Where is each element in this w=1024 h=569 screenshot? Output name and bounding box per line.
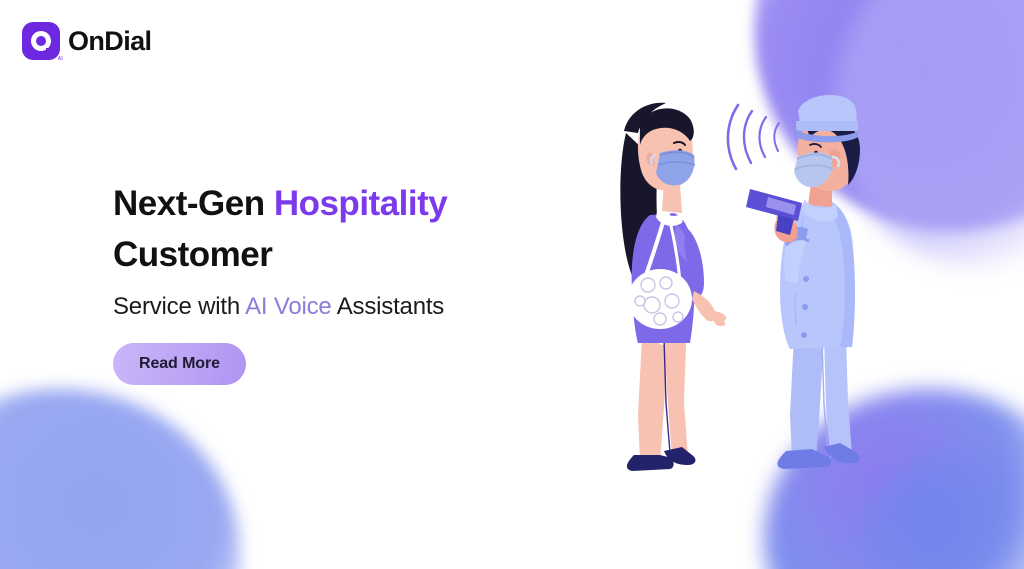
headline-part-1: Next-Gen [113,184,274,223]
button-icon [803,276,809,282]
signal-waves-icon [728,105,779,169]
hero-copy: Next-Gen Hospitality Customer Service wi… [113,178,583,385]
blob-bottom-left-icon [0,389,240,569]
trousers-icon [790,335,824,459]
face-mask-icon [656,150,695,185]
brand-name: OnDial [68,26,151,57]
hero-subtitle: Service with AI Voice Assistants [113,293,583,321]
subhead-part-1: Service with [113,293,245,320]
hero-banner: AI OnDial Next-Gen Hospitality Customer … [0,0,1024,569]
guest-woman-figure [620,103,726,471]
logo-tail-icon [46,48,55,57]
brand-logo[interactable]: AI OnDial [22,22,151,60]
shoe-left-icon [777,449,831,469]
logo-ai-badge: AI [58,56,63,62]
subhead-highlight: AI Voice [245,293,331,320]
button-icon [801,332,807,338]
bellhop-hat-icon [798,95,857,123]
read-more-button[interactable]: Read More [113,343,246,385]
ondial-circle-logo-icon: AI [22,22,60,60]
shoe-left-icon [627,455,674,471]
subhead-part-2: Assistants [332,293,445,320]
page-title: Next-Gen Hospitality Customer [113,178,583,281]
hero-illustration [590,85,950,485]
button-icon [802,304,808,310]
hand-icon [692,291,716,321]
headline-highlight: Hospitality [274,184,447,223]
headline-part-2: Customer [113,235,272,274]
